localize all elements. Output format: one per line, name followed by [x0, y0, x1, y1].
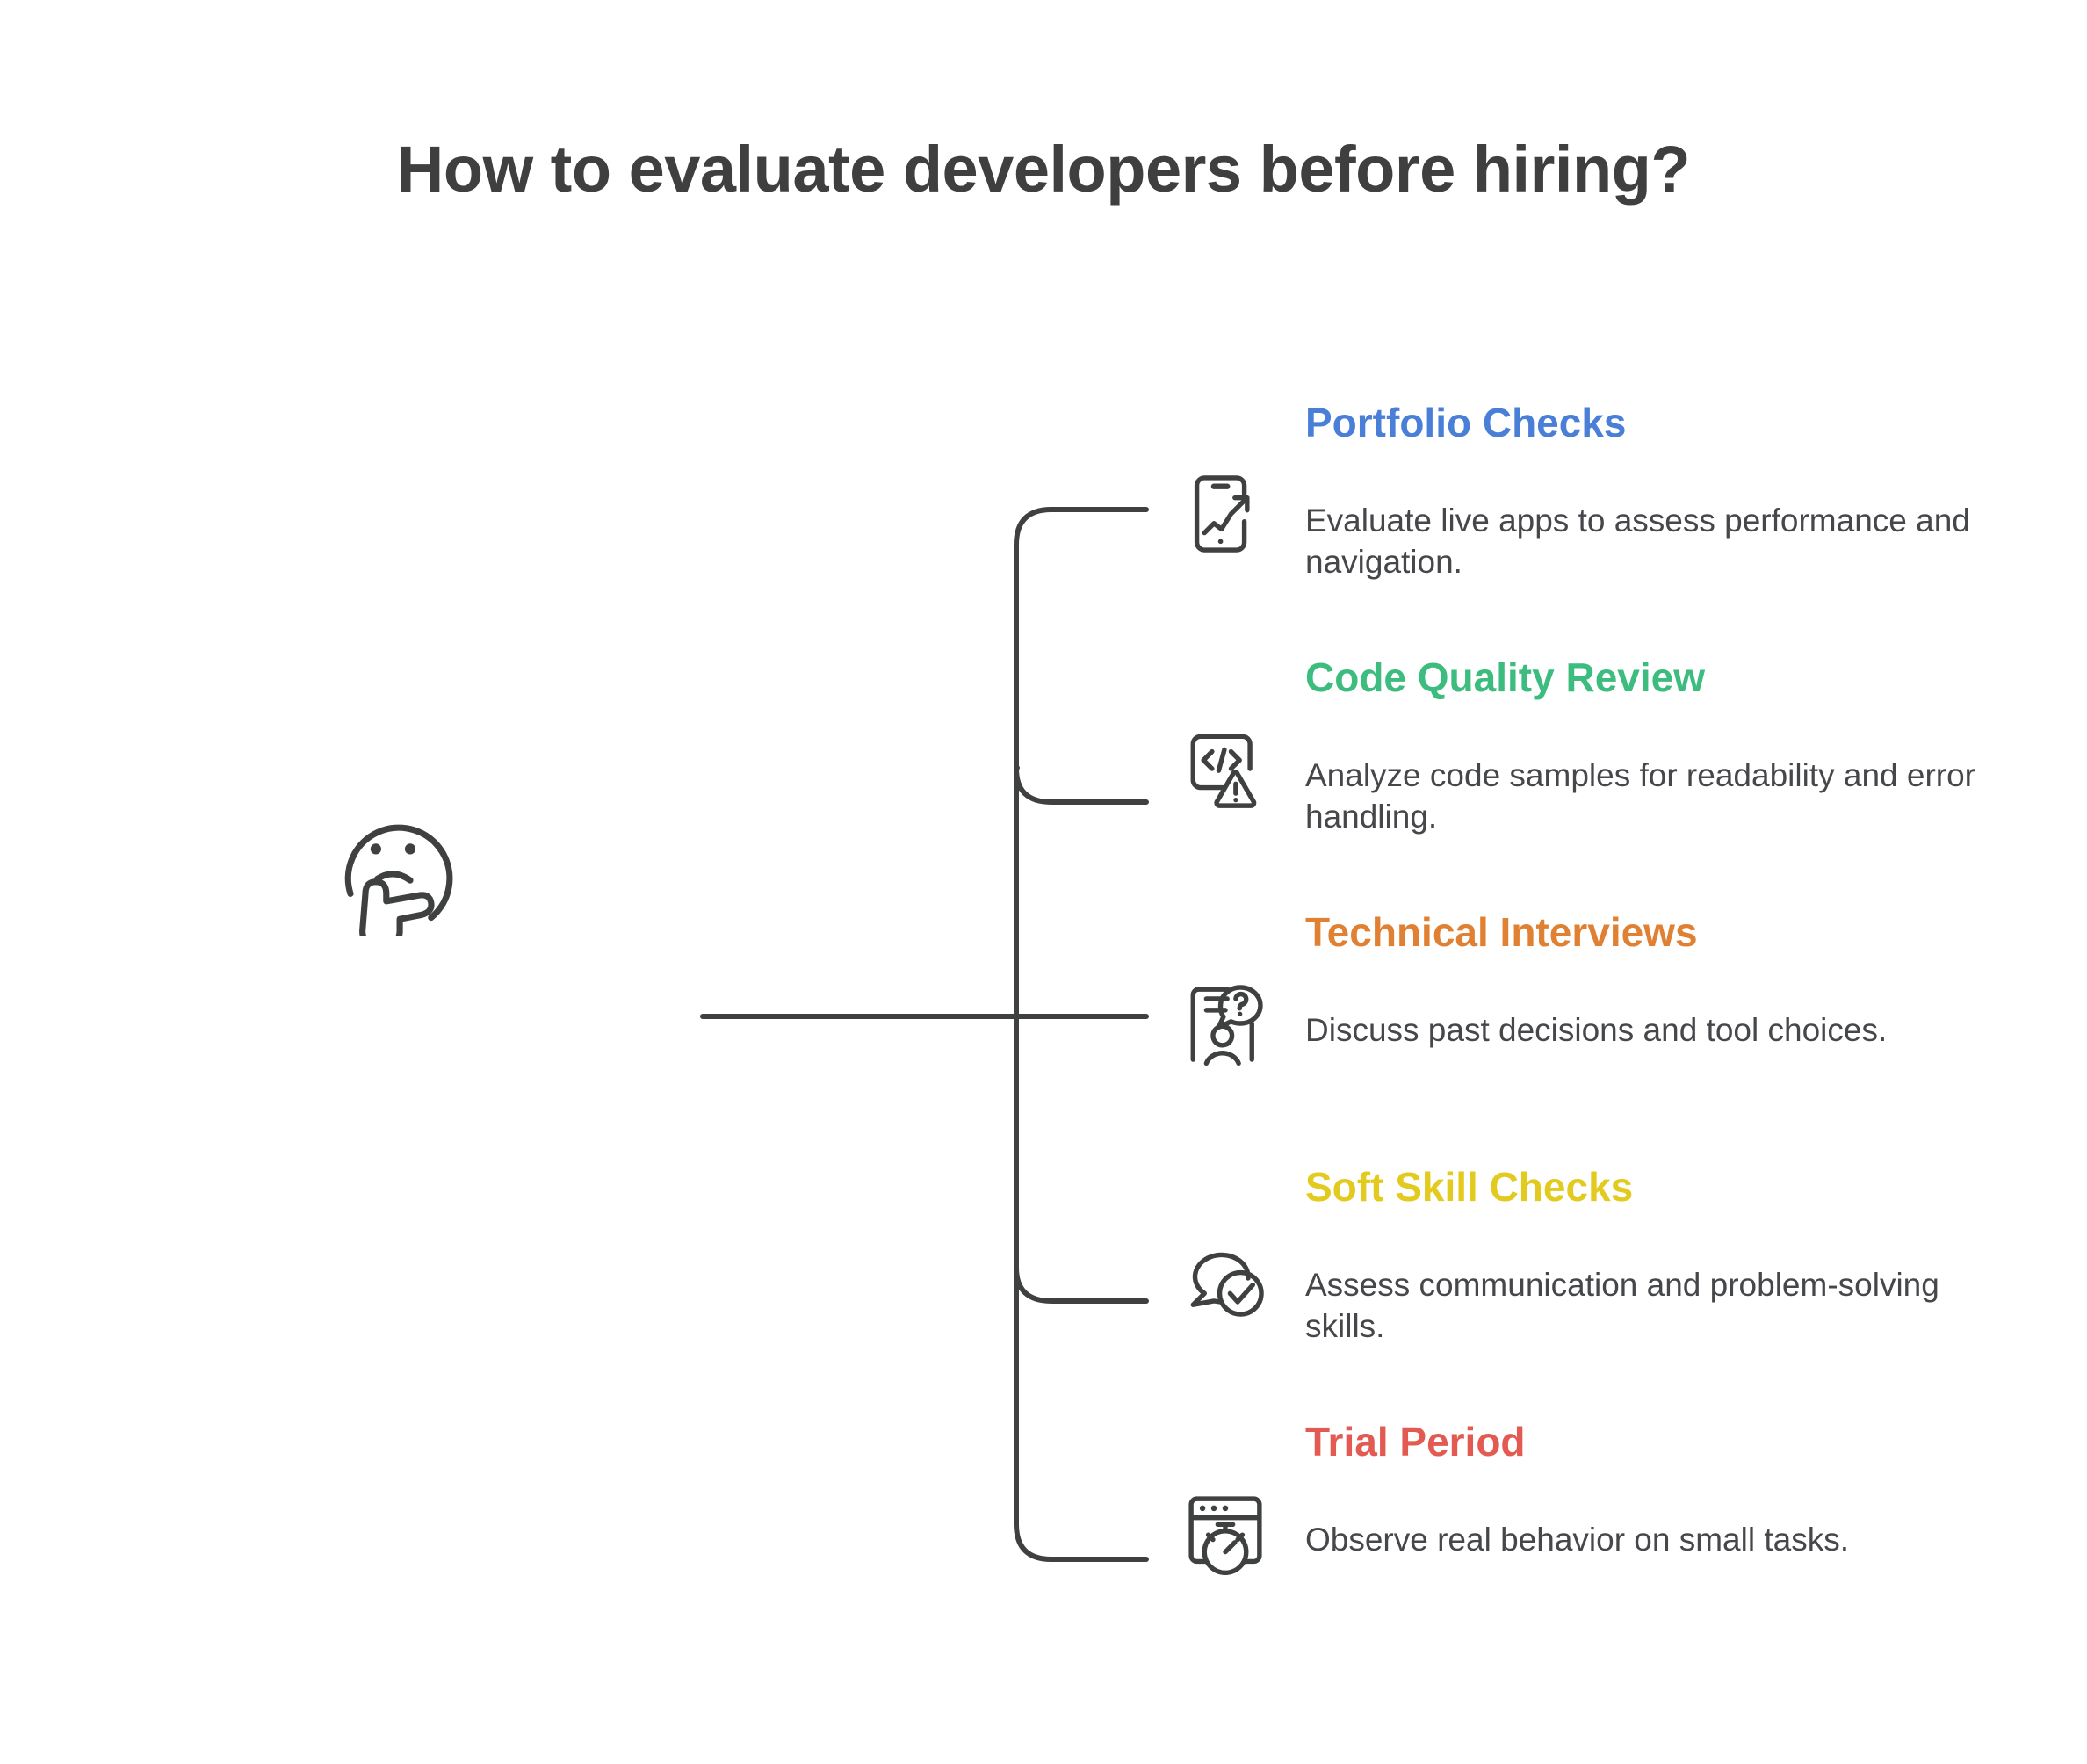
branch-description: Observe real behavior on small tasks.: [1305, 1495, 1982, 1561]
branch-text: Portfolio Checks Evaluate live apps to a…: [1305, 457, 1982, 583]
branch-description: Evaluate live apps to assess performance…: [1305, 476, 1982, 583]
code-warning-icon: [1168, 712, 1282, 826]
branch-heading: Portfolio Checks: [1305, 402, 1627, 445]
presenter-question-icon: [1168, 966, 1282, 1081]
branch-text: Soft Skill Checks Assess communication a…: [1305, 1221, 1982, 1348]
branch-text: Technical Interviews Discuss past decisi…: [1305, 966, 1982, 1052]
infographic-canvas: How to evaluate developers before hiring…: [0, 0, 2087, 1764]
branch-description: Analyze code samples for readability and…: [1305, 731, 1982, 838]
branch-heading: Trial Period: [1305, 1421, 1526, 1464]
mobile-growth-chart-icon: [1168, 457, 1282, 571]
branch-description: Assess communication and problem-solving…: [1305, 1240, 1982, 1348]
branch-text: Code Quality Review Analyze code samples…: [1305, 712, 1982, 838]
branch-description: Discuss past decisions and tool choices.: [1305, 986, 1982, 1052]
branch-text: Trial Period Observe real behavior on sm…: [1305, 1476, 1982, 1561]
branch-heading: Technical Interviews: [1305, 912, 1698, 954]
branch-heading: Soft Skill Checks: [1305, 1167, 1633, 1209]
branch-heading: Code Quality Review: [1305, 657, 1705, 699]
branch-technical-interviews[interactable]: Technical Interviews Discuss past decisi…: [1168, 966, 1982, 1081]
browser-stopwatch-icon: [1168, 1476, 1282, 1590]
branch-trial-period[interactable]: Trial Period Observe real behavior on sm…: [1168, 1476, 1982, 1590]
branch-soft-skill-checks[interactable]: Soft Skill Checks Assess communication a…: [1168, 1221, 1982, 1348]
chat-check-icon: [1168, 1221, 1282, 1335]
branch-portfolio-checks[interactable]: Portfolio Checks Evaluate live apps to a…: [1168, 457, 1982, 583]
branch-code-quality-review[interactable]: Code Quality Review Analyze code samples…: [1168, 712, 1982, 838]
thinking-face-icon: [321, 786, 470, 936]
page-title: How to evaluate developers before hiring…: [0, 132, 2087, 206]
